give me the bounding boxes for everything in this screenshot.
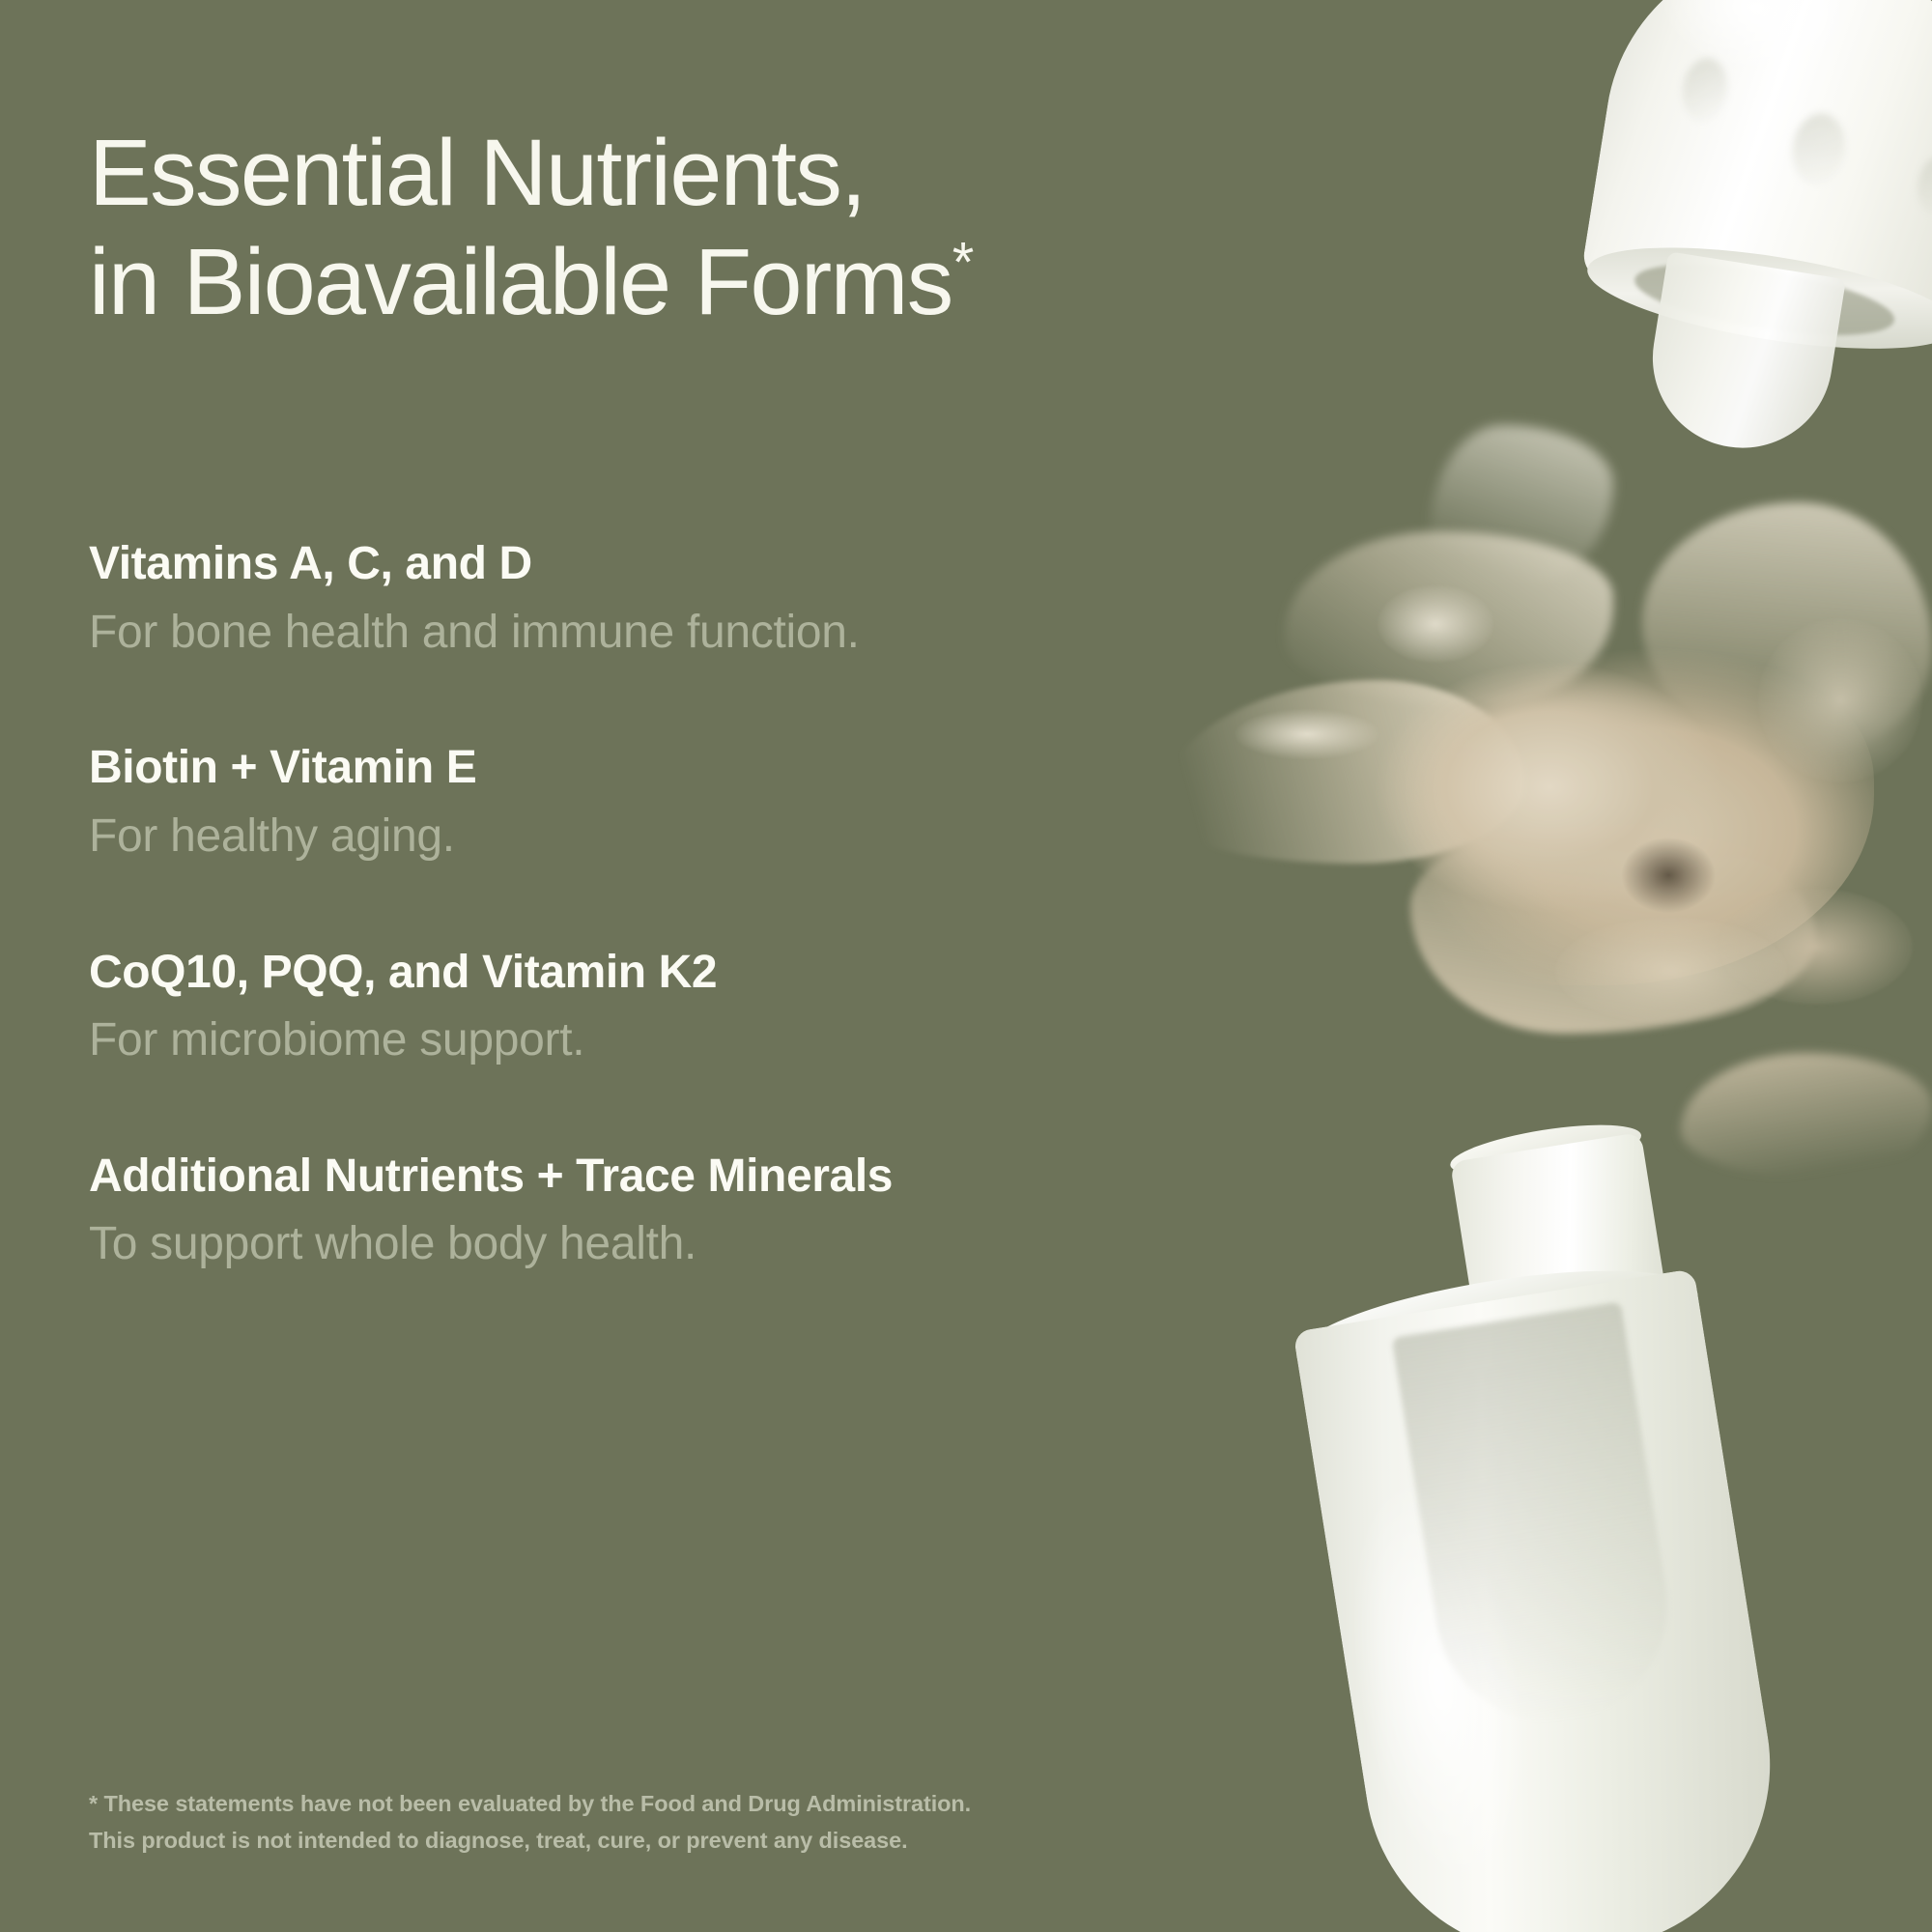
bottle-body [1293,1268,1796,1932]
page-title: Essential Nutrients, in Bioavailable For… [89,119,1306,336]
powder-grains [1758,618,1922,782]
product-feature-graphic: Essential Nutrients, in Bioavailable For… [0,0,1932,1932]
jar-dimple [1914,153,1932,218]
jar-dimple [1678,55,1732,125]
nutrient-title: Biotin + Vitamin E [89,741,1277,796]
jar-body [1580,0,1932,337]
nutrient-description: To support whole body health. [89,1217,1277,1272]
bottle-neck [1450,1132,1679,1401]
bottle-rim [1290,1249,1704,1401]
powder-spray [1285,531,1613,705]
powder-grains [1378,585,1493,663]
list-item: Biotin + Vitamin E For healthy aging. [89,741,1277,864]
powder-spray [1642,502,1932,753]
nutrient-description: For healthy aging. [89,810,1277,865]
supplement-jar-cap-image [1576,0,1932,370]
content-column: Essential Nutrients, in Bioavailable For… [89,0,1296,1932]
jar-inner-shadow [1631,250,1899,349]
nutrient-title: Vitamins A, C, and D [89,537,1277,592]
nutrient-description: For microbiome support. [89,1013,1277,1068]
powder-grains [1719,889,1913,1005]
powder-trail [1430,425,1613,589]
bottle-neck-top [1447,1115,1644,1185]
nutrient-title: Additional Nutrients + Trace Minerals [89,1150,1277,1205]
jar-rim [1581,228,1932,369]
powder-drift [1681,1053,1932,1179]
jar-dimple [1787,109,1850,188]
powder-core [1333,618,1874,985]
nutrient-description: For bone health and immune function. [89,606,1277,661]
page-title-footnote-marker: * [952,231,975,294]
powder-grains [1555,918,1787,1024]
bottle-inner-shadow [1392,1301,1685,1738]
nutrient-list: Vitamins A, C, and D For bone health and… [89,537,1277,1272]
list-item: Vitamins A, C, and D For bone health and… [89,537,1277,660]
list-item: CoQ10, PQQ, and Vitamin K2 For microbiom… [89,946,1277,1068]
page-title-text: Essential Nutrients, in Bioavailable For… [89,120,952,334]
list-item: Additional Nutrients + Trace Minerals To… [89,1150,1277,1272]
fda-disclaimer: * These statements have not been evaluat… [89,1785,1345,1859]
jar-spout [1640,251,1846,461]
powder-spray [1410,821,1816,1034]
nutrient-title: CoQ10, PQQ, and Vitamin K2 [89,946,1277,1001]
supplement-bottle-image [1251,1109,1911,1932]
